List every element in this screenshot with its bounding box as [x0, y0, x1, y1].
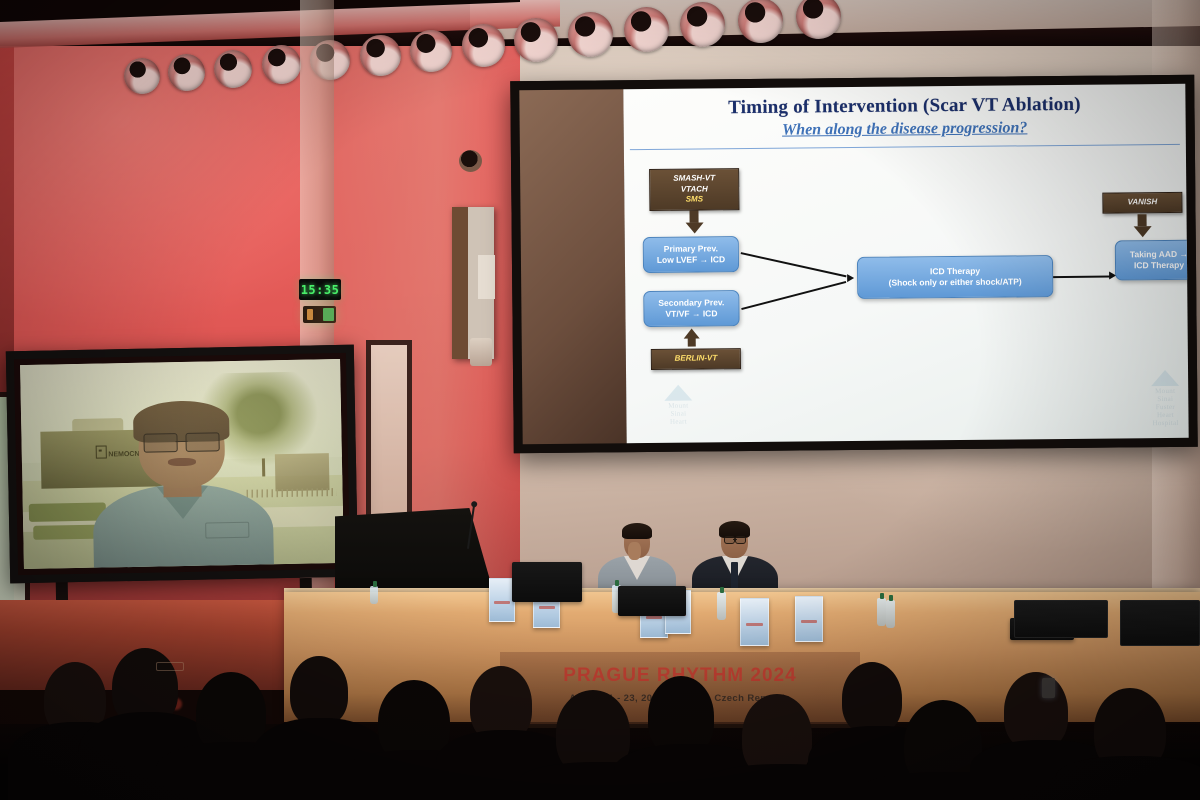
slide-title: Timing of Intervention (Scar VT Ablation… — [623, 93, 1185, 120]
icd-line2: (Shock only or either shock/ATP) — [889, 276, 1022, 289]
remote-speaker-screen: NEMOCNICE — [6, 345, 358, 584]
digital-clock: 15:35 — [299, 279, 341, 300]
trial-vanish-line1: VANISH — [1109, 197, 1175, 208]
ceiling-port-icon — [262, 45, 301, 84]
water-bottle — [370, 586, 378, 604]
flow-node-icd-therapy: ICD Therapy (Shock only or either shock/… — [857, 255, 1053, 299]
ceiling-port-icon — [514, 18, 558, 62]
trial-top-line2: VTACH — [656, 184, 732, 195]
hospital-mark-icon — [95, 445, 106, 458]
speaker-glasses-icon — [143, 433, 220, 451]
video-hedge — [29, 502, 106, 522]
water-bottle — [717, 592, 726, 620]
trial-berlin-line1: BERLIN-VT — [658, 353, 734, 364]
aad-line2: ICD Therapy — [1130, 260, 1188, 272]
video-feed: NEMOCNICE — [20, 359, 344, 569]
water-bottle — [877, 598, 886, 626]
arrow-stem-down — [689, 210, 698, 222]
main-projection-screen: Timing of Intervention (Scar VT Ablation… — [510, 75, 1198, 454]
secondary-line1: Secondary Prev. — [658, 297, 724, 309]
audience-head — [842, 662, 902, 734]
ceiling-port-icon — [360, 35, 401, 76]
ceiling-camera-icon — [459, 150, 482, 172]
secondary-line2: VT/VF → ICD — [658, 308, 724, 320]
arrow-head-down — [685, 222, 703, 233]
connector-icd-to-aad — [1053, 276, 1111, 278]
flow-node-primary-prevention: Primary Prev. Low LVEF → ICD — [643, 236, 739, 273]
connector-secondary-to-icd — [741, 281, 846, 310]
ceiling-port-icon — [410, 30, 452, 72]
logo-triangle-icon — [664, 385, 692, 401]
connector-primary-to-icd — [741, 252, 847, 277]
primary-line1: Primary Prev. — [657, 243, 725, 255]
flow-node-trial-vanish: VANISH — [1102, 192, 1182, 213]
logo-left-line3: Heart — [648, 417, 708, 426]
flow-node-secondary-prevention: Secondary Prev. VT/VF → ICD — [643, 290, 739, 327]
ceiling-port-icon — [214, 50, 252, 88]
audience-head — [1004, 672, 1068, 750]
ceiling-port-icon — [462, 24, 505, 67]
slide-subtitle: When along the disease progression? — [624, 118, 1186, 141]
trial-top-line1: SMASH-VT — [656, 173, 732, 184]
wall-speaker-plate — [478, 255, 495, 299]
name-placard — [795, 596, 823, 642]
monitor — [1014, 600, 1108, 638]
flow-node-taking-aad: Taking AAD → ICD Therapy — [1115, 240, 1189, 281]
video-far-building — [275, 453, 330, 491]
name-placard — [740, 598, 769, 646]
auditorium-photo: 15:35 Timing of Intervention (Scar VT Ab… — [0, 0, 1200, 800]
clock-time: 15:35 — [301, 283, 340, 297]
logo-right-line5: Hospital — [1133, 419, 1189, 428]
laptop — [618, 586, 686, 616]
logo-mount-sinai-fuster: Mount Sinai Fuster Heart Hospital — [1132, 370, 1189, 428]
wall-control-box — [470, 338, 492, 366]
connector-arrowhead-icd — [847, 274, 854, 282]
speaker-scrub-pocket — [206, 522, 250, 539]
water-bottle — [886, 600, 895, 628]
video-hedge-lower — [33, 525, 97, 540]
arrow-head-down-vanish — [1133, 226, 1151, 237]
logo-mount-sinai-heart: Mount Sinai Heart — [648, 384, 708, 426]
slide-flowchart: SMASH-VT VTACH SMS Primary Prev. Low LVE… — [624, 148, 1189, 443]
aad-line1: Taking AAD → — [1130, 248, 1188, 260]
speaker-mouth — [167, 458, 196, 467]
arrow-stem-down-vanish — [1138, 214, 1147, 226]
panelist-left-hand — [628, 542, 641, 560]
trial-top-line3: SMS — [656, 194, 732, 205]
ceiling-port-icon — [168, 54, 205, 91]
audience-shoulders — [1056, 756, 1200, 800]
ceiling-port-icon — [680, 2, 725, 47]
monitor — [1120, 600, 1200, 646]
flow-node-trial-top: SMASH-VT VTACH SMS — [649, 168, 739, 210]
audience-phone — [1042, 678, 1055, 698]
audience-glasses-icon — [156, 662, 184, 671]
flow-node-trial-berlin: BERLIN-VT — [651, 348, 741, 369]
panelist-right-glasses-icon — [724, 536, 746, 542]
ceiling-port-icon — [624, 7, 669, 52]
panelist-left-hair — [622, 523, 652, 539]
audience-head — [290, 656, 348, 726]
logo-triangle-icon — [1151, 370, 1179, 386]
screen-unlit-area — [519, 89, 626, 444]
exit-sign-icon — [303, 306, 336, 323]
laptop — [512, 562, 582, 602]
primary-line2: Low LVEF → ICD — [657, 254, 725, 266]
video-fence — [247, 488, 337, 498]
arrow-head-up — [684, 328, 700, 338]
presentation-slide: Timing of Intervention (Scar VT Ablation… — [623, 84, 1188, 443]
ceiling-port-icon — [124, 58, 160, 94]
ceiling-port-icon — [738, 0, 783, 43]
ceiling-port-icon — [568, 12, 613, 57]
